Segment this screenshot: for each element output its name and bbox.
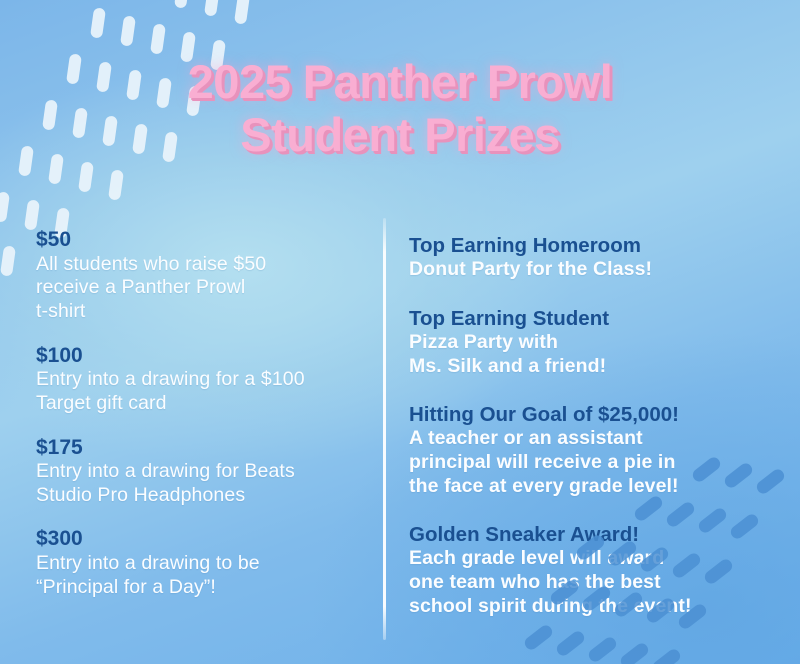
- prize-description-line: Entry into a drawing for a $100: [36, 368, 366, 392]
- prize-description-line: “Principal for a Day”!: [36, 576, 366, 600]
- prize-description: Each grade level will awardone team who …: [409, 547, 784, 618]
- capsule-shape-icon: [90, 7, 106, 38]
- capsule-shape-icon: [650, 647, 682, 664]
- prize-tier-heading: Top Earning Student: [409, 307, 784, 331]
- capsule-shape-icon: [150, 23, 166, 54]
- prize-block: Top Earning StudentPizza Party withMs. S…: [409, 307, 784, 378]
- prize-block: Top Earning HomeroomDonut Party for the …: [409, 234, 784, 282]
- capsule-shape-icon: [0, 191, 10, 222]
- prize-description-line: Each grade level will award: [409, 547, 784, 571]
- prize-tier-heading: $50: [36, 228, 366, 253]
- capsule-shape-icon: [78, 161, 94, 192]
- prize-description: All students who raise $50receive a Pant…: [36, 253, 366, 324]
- prize-block: Hitting Our Goal of $25,000!A teacher or…: [409, 403, 784, 498]
- prize-block: $100Entry into a drawing for a $100Targe…: [36, 344, 366, 416]
- prize-description: Pizza Party withMs. Silk and a friend!: [409, 331, 784, 378]
- capsule-shape-icon: [618, 641, 650, 664]
- prize-block: $50All students who raise $50receive a P…: [36, 228, 366, 324]
- column-divider: [383, 218, 386, 640]
- prize-description-line: principal will receive a pie in: [409, 451, 784, 475]
- prize-description-line: A teacher or an assistant: [409, 427, 784, 451]
- prize-description-line: Studio Pro Headphones: [36, 484, 366, 508]
- prize-description: Donut Party for the Class!: [409, 258, 784, 282]
- right-prize-column: Top Earning HomeroomDonut Party for the …: [409, 234, 784, 643]
- prize-description-line: All students who raise $50: [36, 253, 366, 277]
- capsule-shape-icon: [0, 245, 16, 276]
- prize-description-line: the face at every grade level!: [409, 475, 784, 499]
- prize-description-line: receive a Panther Prowl: [36, 276, 366, 300]
- prize-block: Golden Sneaker Award!Each grade level wi…: [409, 523, 784, 618]
- prize-poster: 2025 Panther Prowl Student Prizes $50All…: [0, 0, 800, 664]
- capsule-shape-icon: [174, 0, 190, 9]
- left-prize-column: $50All students who raise $50receive a P…: [36, 228, 366, 619]
- prize-description-line: Donut Party for the Class!: [409, 258, 784, 282]
- prize-description: Entry into a drawing for a $100Target gi…: [36, 368, 366, 415]
- prize-block: $175Entry into a drawing for BeatsStudio…: [36, 436, 366, 508]
- capsule-shape-icon: [234, 0, 250, 25]
- prize-description: Entry into a drawing for BeatsStudio Pro…: [36, 460, 366, 507]
- prize-description-line: t-shirt: [36, 300, 366, 324]
- prize-tier-heading: $175: [36, 436, 366, 461]
- prize-description-line: school spirit during the event!: [409, 595, 784, 619]
- prize-tier-heading: Hitting Our Goal of $25,000!: [409, 403, 784, 427]
- page-title-line-1: 2025 Panther Prowl: [0, 56, 800, 109]
- prize-description: Entry into a drawing to be“Principal for…: [36, 552, 366, 599]
- prize-description: A teacher or an assistantprincipal will …: [409, 427, 784, 498]
- prize-description-line: Target gift card: [36, 392, 366, 416]
- prize-tier-heading: $300: [36, 527, 366, 552]
- capsule-shape-icon: [144, 0, 160, 1]
- prize-description-line: Entry into a drawing for Beats: [36, 460, 366, 484]
- capsule-shape-icon: [108, 169, 124, 200]
- prize-description-line: Ms. Silk and a friend!: [409, 355, 784, 379]
- prize-block: $300Entry into a drawing to be“Principal…: [36, 527, 366, 599]
- prize-description-line: one team who has the best: [409, 571, 784, 595]
- capsule-shape-icon: [120, 15, 136, 46]
- prize-description-line: Pizza Party with: [409, 331, 784, 355]
- prize-tier-heading: Golden Sneaker Award!: [409, 523, 784, 547]
- prize-tier-heading: Top Earning Homeroom: [409, 234, 784, 258]
- capsule-shape-icon: [204, 0, 220, 17]
- page-title-line-2: Student Prizes: [0, 109, 800, 162]
- capsule-shape-icon: [24, 199, 40, 230]
- prize-description-line: Entry into a drawing to be: [36, 552, 366, 576]
- prize-tier-heading: $100: [36, 344, 366, 369]
- page-title: 2025 Panther Prowl Student Prizes: [0, 56, 800, 161]
